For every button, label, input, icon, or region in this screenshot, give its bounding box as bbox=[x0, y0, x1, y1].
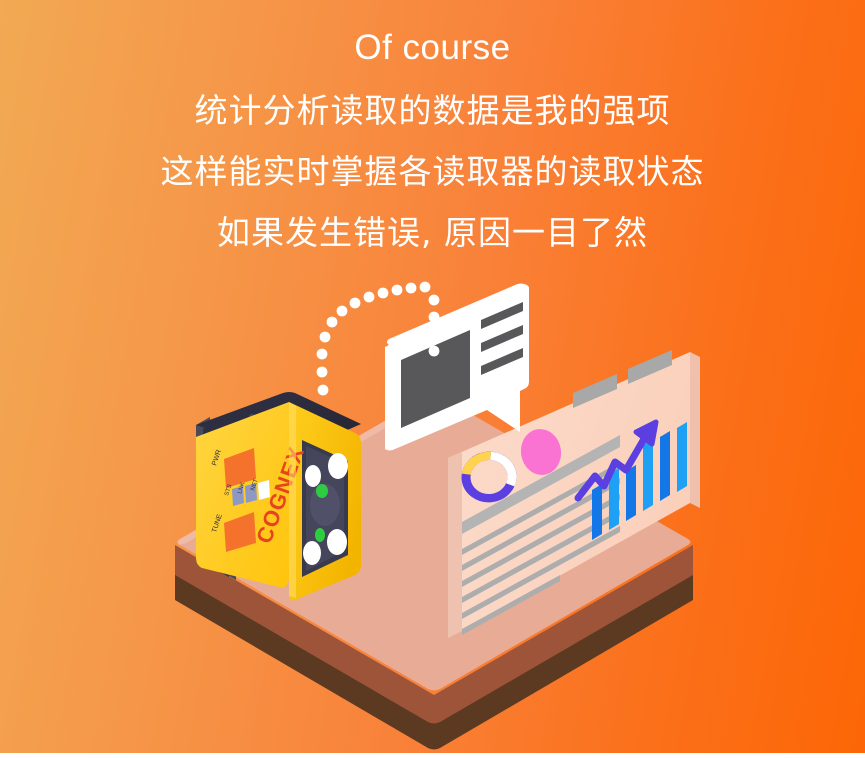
scene-illustration: PWR TUNE STS LNK NET COGNEX bbox=[0, 0, 865, 758]
trail-dot bbox=[327, 317, 338, 328]
trail-dot bbox=[392, 285, 403, 296]
trail-dot bbox=[429, 312, 440, 323]
bar-6 bbox=[677, 422, 687, 492]
reader-status-led bbox=[316, 484, 328, 498]
reader-led bbox=[328, 453, 348, 479]
trail-dot bbox=[337, 306, 348, 317]
trail-dot bbox=[429, 329, 440, 340]
trail-dot bbox=[320, 332, 331, 343]
trail-dot bbox=[406, 283, 417, 294]
cognex-barcode-reader[interactable]: PWR TUNE STS LNK NET COGNEX bbox=[196, 392, 361, 601]
reader-led bbox=[327, 529, 347, 555]
trail-dot bbox=[364, 292, 375, 303]
reader-status-led bbox=[315, 528, 325, 542]
trail-dot bbox=[429, 346, 440, 357]
reader-led bbox=[303, 541, 321, 565]
panel-side-edge bbox=[690, 352, 700, 508]
bottom-white-strip bbox=[0, 753, 865, 758]
trail-dot bbox=[378, 288, 389, 299]
bar-5 bbox=[660, 431, 670, 501]
bar-3 bbox=[626, 465, 636, 521]
reader-led bbox=[305, 465, 321, 487]
trail-dot bbox=[350, 298, 361, 309]
panel-left-band bbox=[448, 452, 462, 638]
reader-edge-highlight bbox=[289, 402, 296, 598]
illustration-stage: PWR TUNE STS LNK NET COGNEX Of course 统计… bbox=[0, 0, 865, 758]
trail-dot bbox=[317, 349, 328, 360]
bar-1 bbox=[592, 484, 602, 540]
trail-dot bbox=[317, 367, 328, 378]
bar-4 bbox=[643, 439, 653, 511]
trail-dot bbox=[420, 282, 431, 293]
trail-dot bbox=[318, 385, 329, 396]
trail-dot bbox=[429, 295, 440, 306]
